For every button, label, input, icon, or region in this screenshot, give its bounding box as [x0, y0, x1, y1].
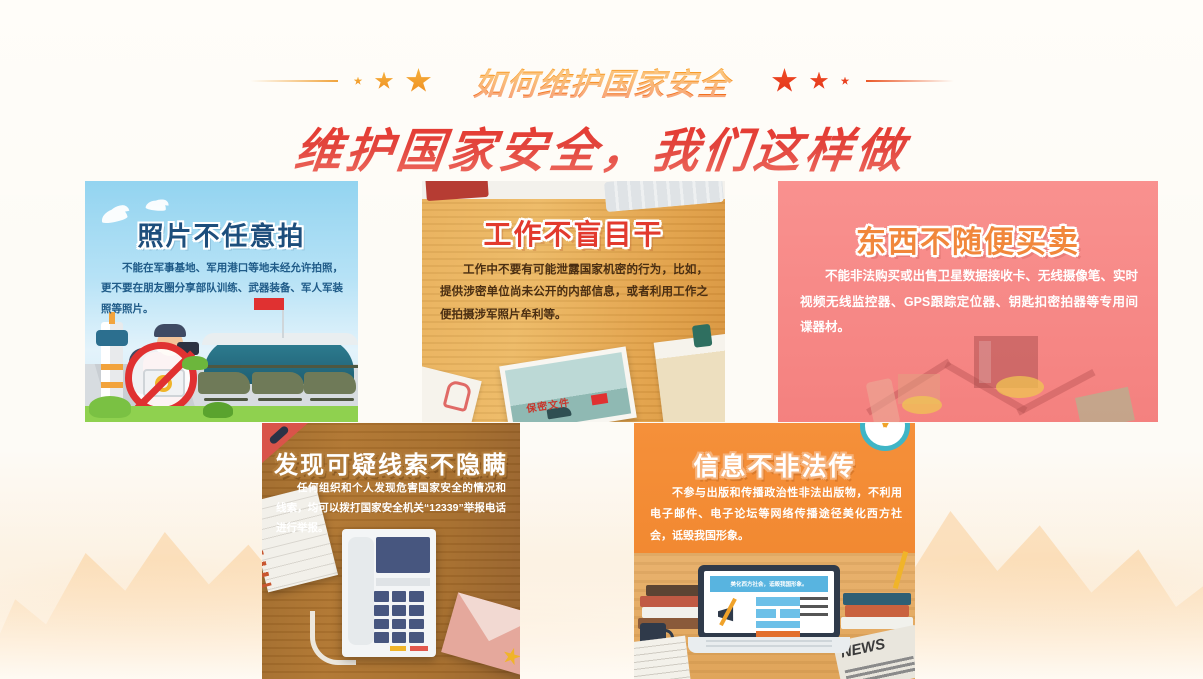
laptop-icon: 美化西方社会，诋毁我国形象。: [698, 565, 840, 653]
phone-yellow-button: [390, 646, 406, 651]
desk-phone-icon: [342, 529, 436, 657]
book-shape: [642, 607, 702, 618]
page-title: 维护国家安全，我们这样做: [0, 112, 1203, 181]
keypad-key: [409, 632, 424, 643]
eyebrow-stars-left: [338, 68, 448, 94]
keypad-key: [374, 632, 389, 643]
helicopter-icon: [252, 372, 304, 394]
spiral-binding: [262, 508, 272, 588]
phone-screen: [376, 537, 430, 573]
newspaper-lines: [845, 656, 915, 679]
card-work: 工作不盲目干 工作中不要有可能泄露国家机密的行为，比如，提供涉密单位尚未公开的内…: [422, 181, 725, 422]
content-block: [756, 597, 800, 606]
card-photo: 照片不任意拍 不能在军事基地、军用港口等地未经允许拍照，更不要在朋友圈分享部队训…: [85, 181, 358, 422]
keypad-key: [392, 591, 407, 602]
keypad-key: [409, 619, 424, 630]
eyebrow-rule-left: [250, 80, 338, 82]
star-icon: [841, 77, 850, 86]
star-icon: [810, 72, 829, 91]
phone-red-button: [410, 646, 428, 651]
flag-shape: [591, 393, 608, 405]
handset-shape: [348, 537, 374, 645]
card-information: 信息不非法传 不参与出版和传播政治性非法出版物，不利用电子邮件、电子论坛等网络传…: [634, 423, 915, 679]
laptop-keyboard-base: [688, 637, 850, 653]
keypad-key: [392, 605, 407, 616]
coin-icon: [902, 396, 942, 414]
photograph-content: [505, 352, 631, 422]
laptop-screen-banner: 美化西方社会，诋毁我国形象。: [710, 576, 828, 592]
star-icon: [375, 72, 394, 91]
content-block: [780, 609, 800, 618]
text-lines: [800, 597, 828, 619]
helicopter-icon: [304, 372, 356, 394]
card-work-body: 工作中不要有可能泄露国家机密的行为，比如，提供涉密单位尚未公开的内部信息，或者利…: [440, 259, 708, 326]
paper-sheet-icon: [634, 636, 690, 679]
card-clues-title: 发现可疑线索不隐瞒: [262, 445, 520, 480]
card-work-title: 工作不盲目干: [422, 213, 725, 253]
star-icon: [772, 68, 798, 94]
laptop-screen: 美化西方社会，诋毁我国形象。: [704, 571, 834, 633]
phone-divider: [376, 578, 430, 586]
keypad-key: [374, 605, 389, 616]
helicopter-icon: [198, 372, 250, 394]
background-wash-fade: [0, 449, 1203, 679]
card-information-body: 不参与出版和传播政治性非法出版物，不利用电子邮件、电子论坛等网络传播途径美化西方…: [650, 483, 902, 547]
card-goods-title: 东西不随便买卖: [778, 217, 1158, 261]
star-icon: [500, 645, 520, 667]
keypad-key: [374, 619, 389, 630]
keypad-key: [374, 591, 389, 602]
card-photo-title: 照片不任意拍: [85, 216, 358, 253]
eyebrow-stars-right: [756, 68, 866, 94]
card-information-desk: NEWS 美化西方社会，诋毁我国形象。: [634, 553, 915, 679]
card-clues-body: 任何组织和个人发现危害国家安全的情况和线索，均可以拨打国家安全机关“12339”…: [276, 479, 506, 539]
keypad-key: [392, 619, 407, 630]
bush-shape: [89, 396, 131, 418]
header-eyebrow: 如何维护国家安全: [0, 58, 1203, 104]
card-goods: 东西不随便买卖 不能非法购买或出售卫星数据接收卡、无线摄像笔、实时视频无线监控器…: [778, 181, 1158, 422]
cap-shape: [154, 324, 186, 337]
tower-stripe: [101, 364, 123, 370]
book-shape: [845, 605, 909, 617]
bush-shape: [182, 356, 208, 370]
book-shape: [646, 585, 700, 596]
eyebrow-rule-right: [866, 80, 954, 82]
card-photo-body: 不能在军事基地、军用港口等地未经允许拍照，更不要在朋友圈分享部队训练、武器装备、…: [101, 258, 343, 319]
phone-keypad: [374, 591, 424, 643]
bush-shape: [203, 402, 233, 418]
card-goods-body: 不能非法购买或出售卫星数据接收卡、无线摄像笔、实时视频无线监控器、GPS跟踪定位…: [800, 264, 1138, 341]
keypad-key: [409, 591, 424, 602]
binder-clip-icon: [692, 324, 713, 348]
document-icon: [654, 334, 725, 422]
eyebrow-title: 如何维护国家安全: [445, 59, 758, 104]
content-block: [756, 621, 800, 628]
book-stack-left: [638, 581, 704, 629]
laptop-lid: 美化西方社会，诋毁我国形象。: [698, 565, 840, 639]
keypad-key: [392, 632, 407, 643]
tower-stripe: [101, 382, 123, 388]
book-stack-right: [841, 581, 913, 629]
star-icon: [406, 68, 432, 94]
card-information-title: 信息不非法传: [634, 447, 915, 483]
keypad-key: [409, 605, 424, 616]
book-shape: [640, 596, 702, 607]
coin-icon: [996, 376, 1044, 398]
card-clues: 发现可疑线索不隐瞒 任何组织和个人发现危害国家安全的情况和线索，均可以拨打国家安…: [262, 423, 520, 679]
background-bottom-mist: [0, 559, 1203, 679]
star-icon: [354, 77, 363, 86]
hangar-roof: [202, 333, 358, 345]
content-block: [756, 609, 776, 618]
book-shape: [843, 593, 911, 605]
no-camera-icon: [125, 342, 197, 414]
clock-hour-hand: [884, 423, 892, 428]
